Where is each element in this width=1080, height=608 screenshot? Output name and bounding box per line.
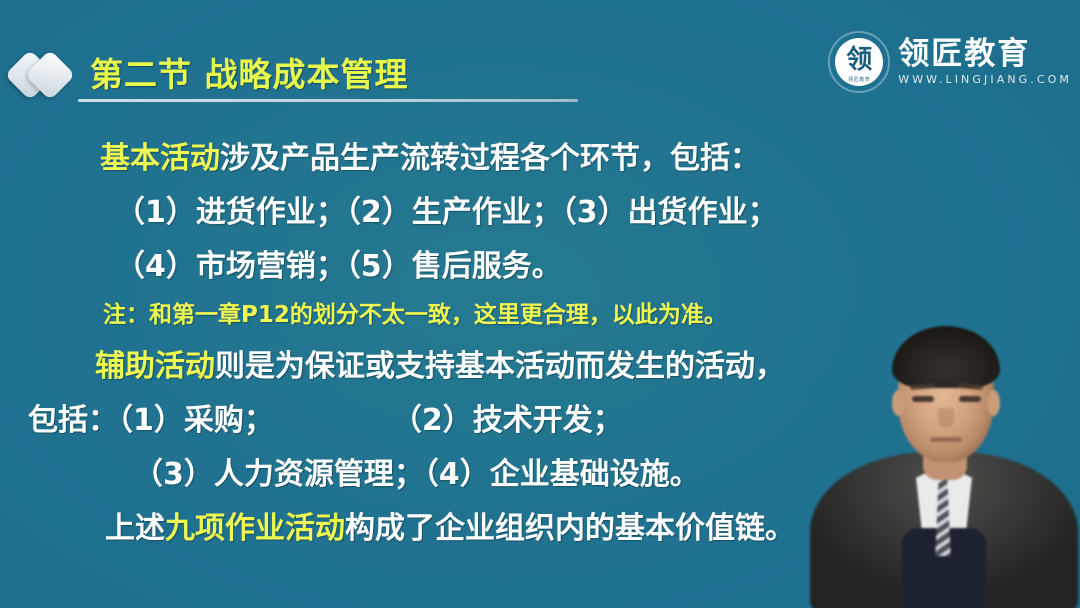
content-line-6: 包括：（1）采购；（2）技术开发； bbox=[28, 406, 623, 436]
brand-url: WWW.LINGJIANG.COM bbox=[898, 73, 1072, 86]
content-line-3: （4）市场营销；（5）售后服务。 bbox=[115, 252, 562, 282]
presenter-nose bbox=[938, 408, 954, 428]
brand-text-block: 领匠教育 WWW.LINGJIANG.COM bbox=[898, 38, 1072, 87]
content-line-6-b: （2）技术开发； bbox=[392, 403, 623, 438]
content-line-7: （3）人力资源管理；（4）企业基础设施。 bbox=[133, 460, 700, 490]
presenter-eye-left bbox=[912, 396, 934, 402]
content-line-6-a: 包括：（1）采购； bbox=[28, 403, 274, 438]
content-line-8-b: 构成了企业组织内的基本价值链。 bbox=[345, 511, 795, 546]
page-title: 第二节 战略成本管理 bbox=[90, 48, 409, 96]
content-line-2: （1）进货作业；（2）生产作业；（3）出货作业； bbox=[115, 198, 778, 228]
presenter-eye-right bbox=[959, 396, 981, 402]
brand-logo: 领 领匠教育 领匠教育 WWW.LINGJIANG.COM bbox=[828, 26, 1072, 98]
brand-name: 领匠教育 bbox=[898, 38, 1072, 71]
double-diamond-icon bbox=[10, 48, 80, 104]
presenter-mouth bbox=[930, 437, 962, 442]
content-line-1: 基本活动涉及产品生产流转过程各个环节，包括： bbox=[100, 144, 760, 174]
slide-header: 第二节 战略成本管理 领 领匠教育 领匠教育 WWW.LINGJIANG.COM bbox=[0, 0, 1080, 120]
content-note: 注：和第一章P12的划分不太一致，这里更合理，以此为准。 bbox=[103, 304, 727, 327]
presenter-hair bbox=[892, 326, 1000, 388]
title-divider bbox=[78, 99, 578, 102]
content-line-1-rest: 涉及产品生产流转过程各个环节，包括： bbox=[220, 141, 760, 176]
content-line-5: 辅助活动则是为保证或支持基本活动而发生的活动， bbox=[95, 352, 785, 382]
instructor-video-overlay bbox=[806, 318, 1080, 608]
presenter-ear-right bbox=[987, 390, 1000, 416]
lecture-slide: 第二节 战略成本管理 领 领匠教育 领匠教育 WWW.LINGJIANG.COM… bbox=[0, 0, 1080, 608]
brand-emblem-icon: 领 领匠教育 bbox=[828, 31, 890, 93]
presenter-ear-left bbox=[892, 390, 905, 416]
highlight-nine-activities: 九项作业活动 bbox=[165, 511, 345, 546]
brand-mark-character: 领 bbox=[846, 47, 872, 73]
content-line-5-rest: 则是为保证或支持基本活动而发生的活动， bbox=[215, 349, 785, 384]
content-line-8-a: 上述 bbox=[105, 511, 165, 546]
brand-mark-subtext: 领匠教育 bbox=[828, 76, 890, 83]
content-line-8: 上述九项作业活动构成了企业组织内的基本价值链。 bbox=[105, 514, 795, 544]
highlight-support-activities: 辅助活动 bbox=[95, 349, 215, 384]
highlight-basic-activities: 基本活动 bbox=[100, 141, 220, 176]
